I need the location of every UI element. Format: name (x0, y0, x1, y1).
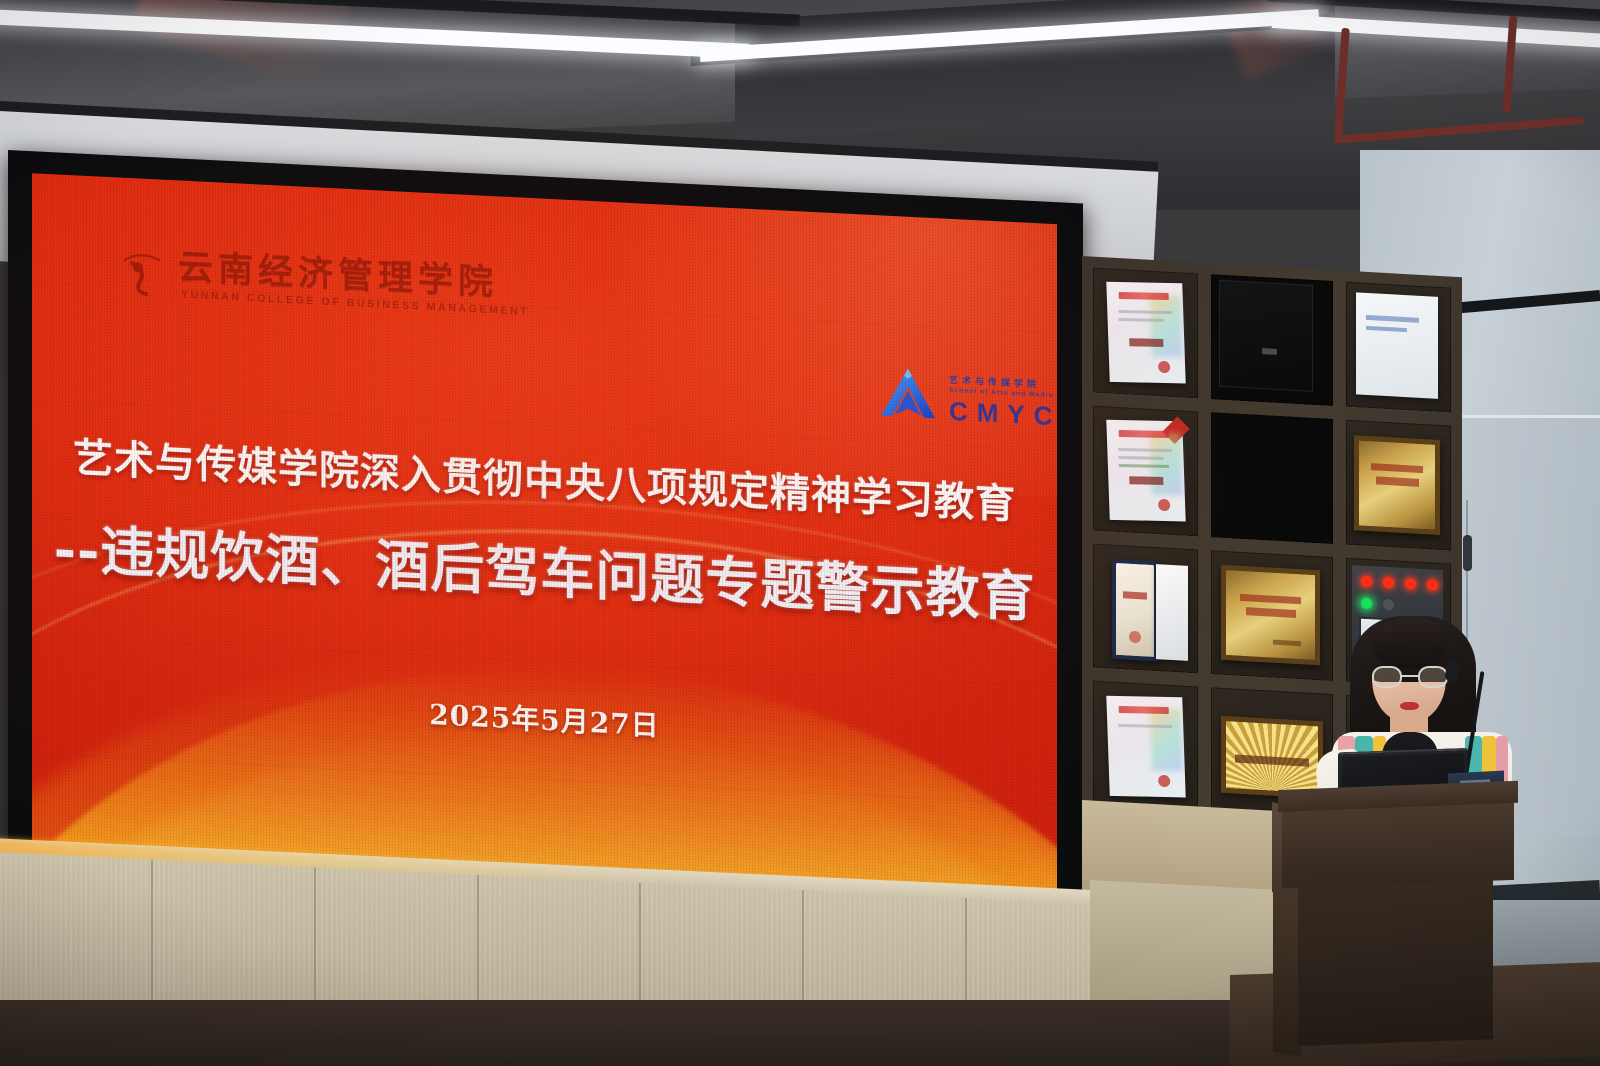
school-name-block: 艺术与传媒学院 School of Arts and Media CMYC (949, 370, 1057, 430)
slide-content: 云南经济管理学院 YUNNAN COLLEGE OF BUSINESS MANA… (32, 173, 1057, 923)
podium-leg-side (1273, 882, 1301, 1057)
certificate-header (1118, 706, 1168, 714)
certificate-line (1118, 310, 1173, 314)
trophy-certificate (1112, 559, 1158, 661)
status-led-green (1361, 598, 1372, 610)
shelf-cubby-r3c1 (1093, 543, 1198, 674)
status-led-red (1361, 575, 1372, 587)
plaque-text-line (1371, 463, 1423, 474)
status-led-off (1383, 599, 1394, 611)
status-led-red (1427, 579, 1438, 591)
shelf-cubby-r4c1 (1093, 681, 1198, 812)
university-emblem-icon (120, 247, 166, 299)
plaque-text-line (1240, 593, 1301, 604)
university-name-block: 云南经济管理学院 YUNNAN COLLEGE OF BUSINESS MANA… (178, 249, 529, 317)
document-sheet (1356, 292, 1438, 399)
gold-plaque (1354, 435, 1440, 535)
status-led-red (1405, 578, 1416, 590)
led-wall-screen[interactable]: 云南经济管理学院 YUNNAN COLLEGE OF BUSINESS MANA… (8, 150, 1083, 949)
school-abbr: CMYC (949, 398, 1057, 430)
certificate-line (1118, 456, 1164, 460)
glasses-bridge (1402, 675, 1418, 677)
document-line (1366, 326, 1407, 332)
certificate-seal (1157, 499, 1170, 511)
certificate-header (1118, 292, 1168, 300)
certificate (1106, 282, 1185, 384)
sunburst-plaque (1221, 715, 1323, 798)
status-led-red (1383, 576, 1394, 588)
glasses-lens-left (1372, 666, 1402, 688)
glasses-icon (1372, 666, 1448, 688)
certificate-seal (1157, 774, 1170, 786)
shelf-cubby-r2c3 (1346, 419, 1451, 550)
shelf-cubby-r1c2 (1211, 274, 1332, 406)
trophy-text (1123, 591, 1148, 600)
certificate (1106, 420, 1185, 522)
plaque-text-line (1235, 755, 1308, 767)
lectern-podium (1278, 790, 1518, 1066)
slide-date: 2025年5月27日 (32, 673, 1057, 764)
screen-face: 云南经济管理学院 YUNNAN COLLEGE OF BUSINESS MANA… (32, 173, 1057, 923)
school-logo: 艺术与传媒学院 School of Arts and Media CMYC (877, 355, 1057, 441)
control-led-row-1 (1361, 575, 1438, 590)
university-logo: 云南经济管理学院 YUNNAN COLLEGE OF BUSINESS MANA… (120, 236, 560, 330)
certificate-line (1118, 318, 1164, 322)
school-triangle-icon (877, 363, 939, 426)
control-led-row-2 (1361, 598, 1394, 611)
certificate-line (1118, 448, 1173, 452)
speaker-logo (1262, 349, 1277, 355)
certificate-decoration (1149, 295, 1183, 358)
certificate-decoration (1149, 708, 1183, 771)
door-handle-upper[interactable] (1463, 535, 1472, 571)
slide-title-block: 艺术与传媒学院深入贯彻中央八项规定精神学习教育 --违规饮酒、酒后驾车问题专题警… (32, 423, 1057, 633)
trophy-seal (1129, 631, 1141, 644)
certificate-title (1129, 476, 1163, 485)
plaque-text-line (1246, 607, 1296, 617)
lecture-hall-scene: 云南经济管理学院 YUNNAN COLLEGE OF BUSINESS MANA… (0, 0, 1600, 1066)
podium-front-face (1282, 798, 1514, 888)
shelf-cubby-r3c2 (1211, 550, 1332, 682)
certificate-line (1118, 464, 1168, 468)
podium-leg (1298, 879, 1493, 1046)
certificate-header (1118, 430, 1168, 438)
gold-plaque-award (1221, 565, 1320, 665)
certificate (1106, 695, 1185, 797)
certificate-seal (1157, 361, 1170, 373)
glasses-lens-right (1418, 666, 1448, 688)
certificate-title (1129, 339, 1163, 348)
trophy-secondary (1156, 564, 1188, 661)
plaque-text-line (1376, 477, 1419, 487)
lips (1400, 702, 1419, 710)
plaque-text-line (1273, 639, 1302, 646)
shelf-cubby-r2c2 (1211, 412, 1332, 544)
ceiling-pipe-horizontal (1334, 116, 1584, 144)
shelf-cubby-r1c1 (1093, 268, 1198, 399)
shelf-cubby-r1c3 (1346, 282, 1451, 413)
wall-speaker (1219, 280, 1314, 393)
document-line (1366, 315, 1419, 322)
certificate-line (1118, 724, 1173, 728)
shelf-cubby-r2c1 (1093, 405, 1198, 536)
